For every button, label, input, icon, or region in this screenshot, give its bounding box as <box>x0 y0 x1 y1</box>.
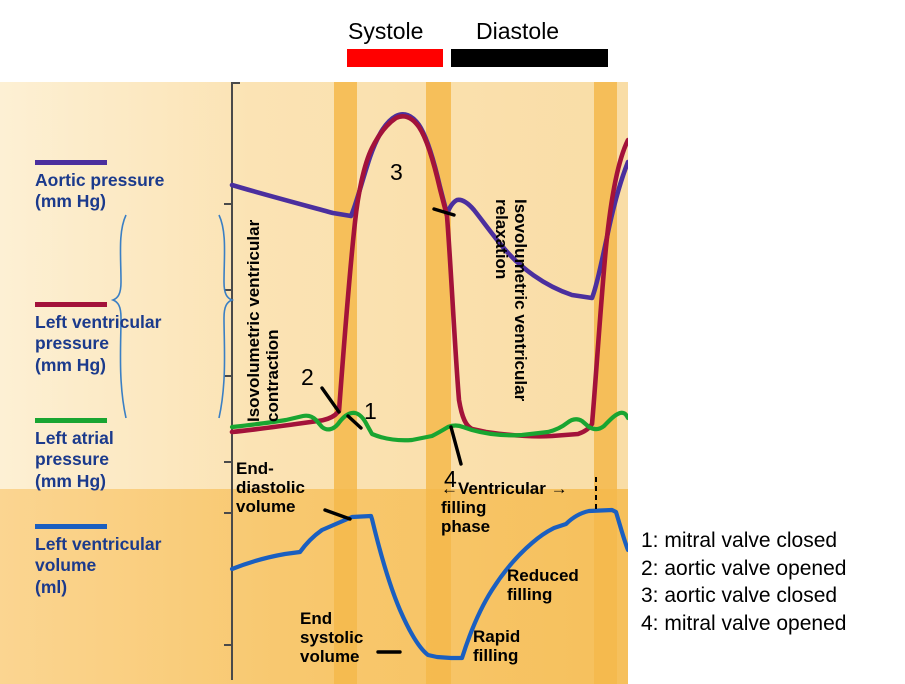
legend-aortic-pressure: Aortic pressure (mm Hg) <box>35 160 164 213</box>
legend-swatch-la-pressure <box>35 418 107 423</box>
end-diastolic-volume-label: End- diastolic volume <box>236 459 305 516</box>
legend-label-lv-pressure: Left ventricular pressure (mm Hg) <box>35 312 161 376</box>
legend-label-la-pressure: Left atrial pressure (mm Hg) <box>35 428 114 492</box>
marker-4-leader <box>451 427 461 464</box>
systole-bar <box>347 49 443 67</box>
rapid-filling-label: Rapid filling <box>473 627 520 665</box>
legend-label-lv-volume: Left ventricular volume (ml) <box>35 534 161 598</box>
diastole-label: Diastole <box>476 18 559 45</box>
marker-4: 4 <box>444 466 457 493</box>
marker-1-leader <box>348 416 361 428</box>
legend-swatch-lv-pressure <box>35 302 107 307</box>
reduced-filling-label: Reduced filling <box>507 566 579 604</box>
valve-event-key: 1: mitral valve closed 2: aortic valve o… <box>641 527 846 638</box>
systole-label: Systole <box>348 18 423 45</box>
marker-2-leader <box>322 388 339 412</box>
marker-2: 2 <box>301 364 314 391</box>
legend-swatch-aortic <box>35 160 107 165</box>
key-item-1: 1: mitral valve closed <box>641 527 846 555</box>
end-systolic-volume-label: End systolic volume <box>300 609 363 666</box>
legend-label-aortic: Aortic pressure (mm Hg) <box>35 170 164 213</box>
marker-3: 3 <box>390 159 403 186</box>
key-item-3: 3: aortic valve closed <box>641 582 846 610</box>
end-diastolic-volume-leader <box>325 510 350 519</box>
legend-left-ventricular-volume: Left ventricular volume (ml) <box>35 524 161 598</box>
isovolumetric-contraction-label: Isovolumetric ventricular contraction <box>244 162 282 422</box>
isovolumetric-relaxation-label: Isovolumetric ventricular relaxation <box>492 199 530 469</box>
diastole-bar <box>451 49 608 67</box>
isovolumetric-relaxation-bracket <box>219 215 232 418</box>
aortic-pressure-curve <box>232 114 628 298</box>
left-ventricular-pressure-curve <box>232 116 628 436</box>
ventricular-filling-phase-label: ←Ventricular → filling phase <box>441 479 568 536</box>
legend-left-ventricular-pressure: Left ventricular pressure (mm Hg) <box>35 302 161 376</box>
legend-swatch-lv-volume <box>35 524 107 529</box>
wiggers-diagram: Systole Diastole <box>0 0 905 684</box>
key-item-4: 4: mitral valve opened <box>641 610 846 638</box>
key-item-2: 2: aortic valve opened <box>641 555 846 583</box>
marker-1: 1 <box>364 398 377 425</box>
legend-left-atrial-pressure: Left atrial pressure (mm Hg) <box>35 418 114 492</box>
